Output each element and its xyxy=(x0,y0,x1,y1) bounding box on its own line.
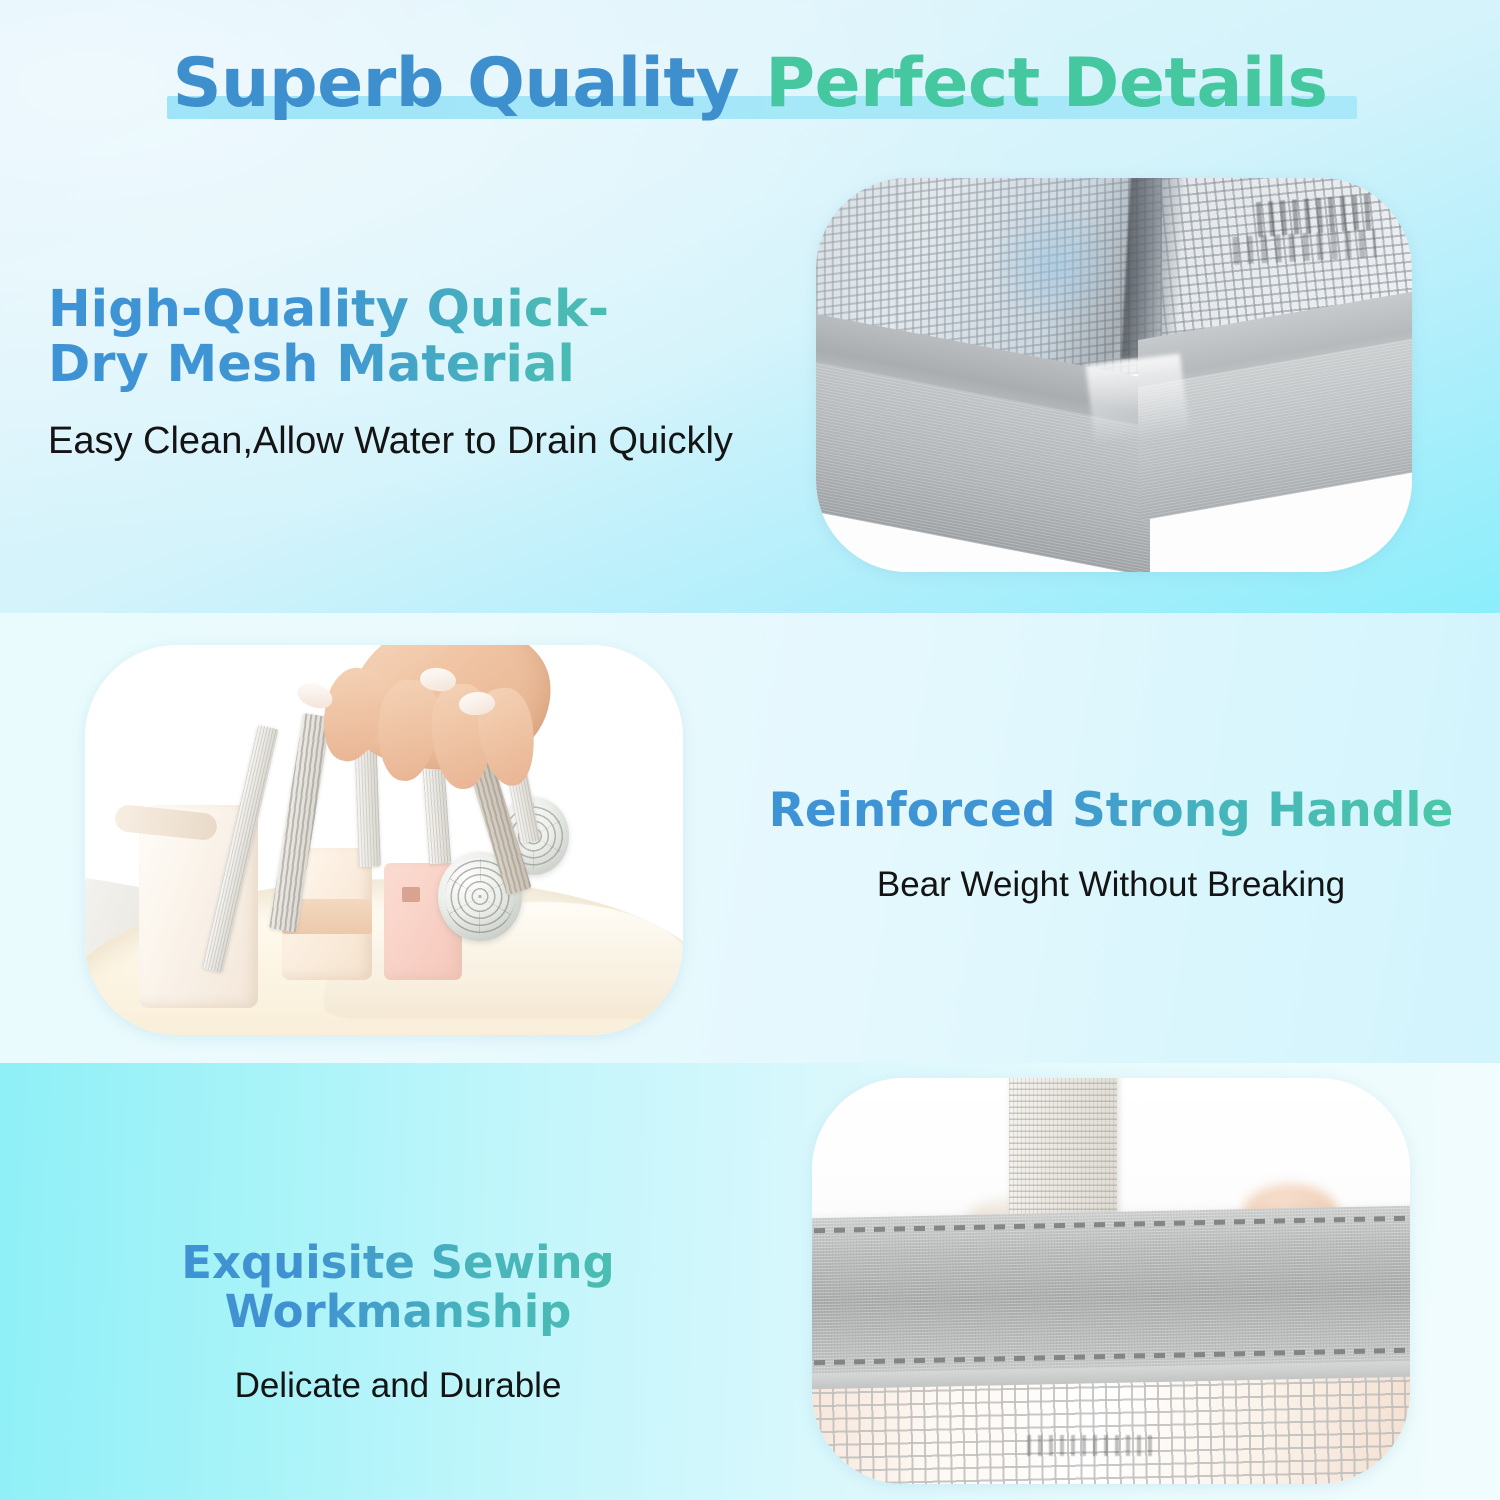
panel1-photo-card xyxy=(816,178,1412,572)
sewing-detail-photo xyxy=(812,1078,1410,1484)
panel3-heading: Exquisite Sewing Workmanship xyxy=(8,1239,788,1336)
corner-seam xyxy=(1086,354,1190,444)
hand-holding-caddy-photo xyxy=(85,645,683,1035)
panel2-subheading: Bear Weight Without Breaking xyxy=(730,865,1492,905)
mesh-corner-photo xyxy=(816,178,1412,572)
panel3-text-block: Exquisite Sewing Workmanship Delicate an… xyxy=(8,1239,788,1406)
panel1-text-block: High-Quality Quick-Dry Mesh Material Eas… xyxy=(48,282,758,463)
vertical-handle-strap xyxy=(1009,1078,1117,1216)
panel1-heading-line1: High-Quality Quick- xyxy=(48,280,609,339)
panel1-heading-line2: Dry Mesh Material xyxy=(48,335,575,394)
infographic-page: Superb QualityPerfect Details High-Quali… xyxy=(0,0,1500,1500)
page-title-part1: Superb Quality xyxy=(173,44,740,123)
panel3-subheading: Delicate and Durable xyxy=(8,1366,788,1406)
pink-bottle-cap xyxy=(402,887,420,903)
panel2-text-block: Reinforced Strong Handle Bear Weight Wit… xyxy=(730,786,1492,905)
mesh-printed-label xyxy=(1027,1435,1159,1455)
page-title: Superb QualityPerfect Details xyxy=(0,44,1500,123)
mesh-blue-highlight xyxy=(971,186,1138,344)
page-title-part2: Perfect Details xyxy=(765,44,1327,123)
panel2-heading: Reinforced Strong Handle xyxy=(730,786,1492,837)
panel2-photo-card xyxy=(85,645,683,1035)
header: Superb QualityPerfect Details xyxy=(0,0,1500,150)
panel1-heading: High-Quality Quick-Dry Mesh Material xyxy=(48,282,758,392)
mesh-body-lower xyxy=(812,1376,1410,1484)
panel-quick-dry-mesh: Superb QualityPerfect Details High-Quali… xyxy=(0,0,1500,613)
panel3-photo-card xyxy=(812,1078,1410,1484)
panel1-subheading: Easy Clean,Allow Water to Drain Quickly xyxy=(48,420,758,463)
mesh-inner-fold xyxy=(1121,178,1185,359)
